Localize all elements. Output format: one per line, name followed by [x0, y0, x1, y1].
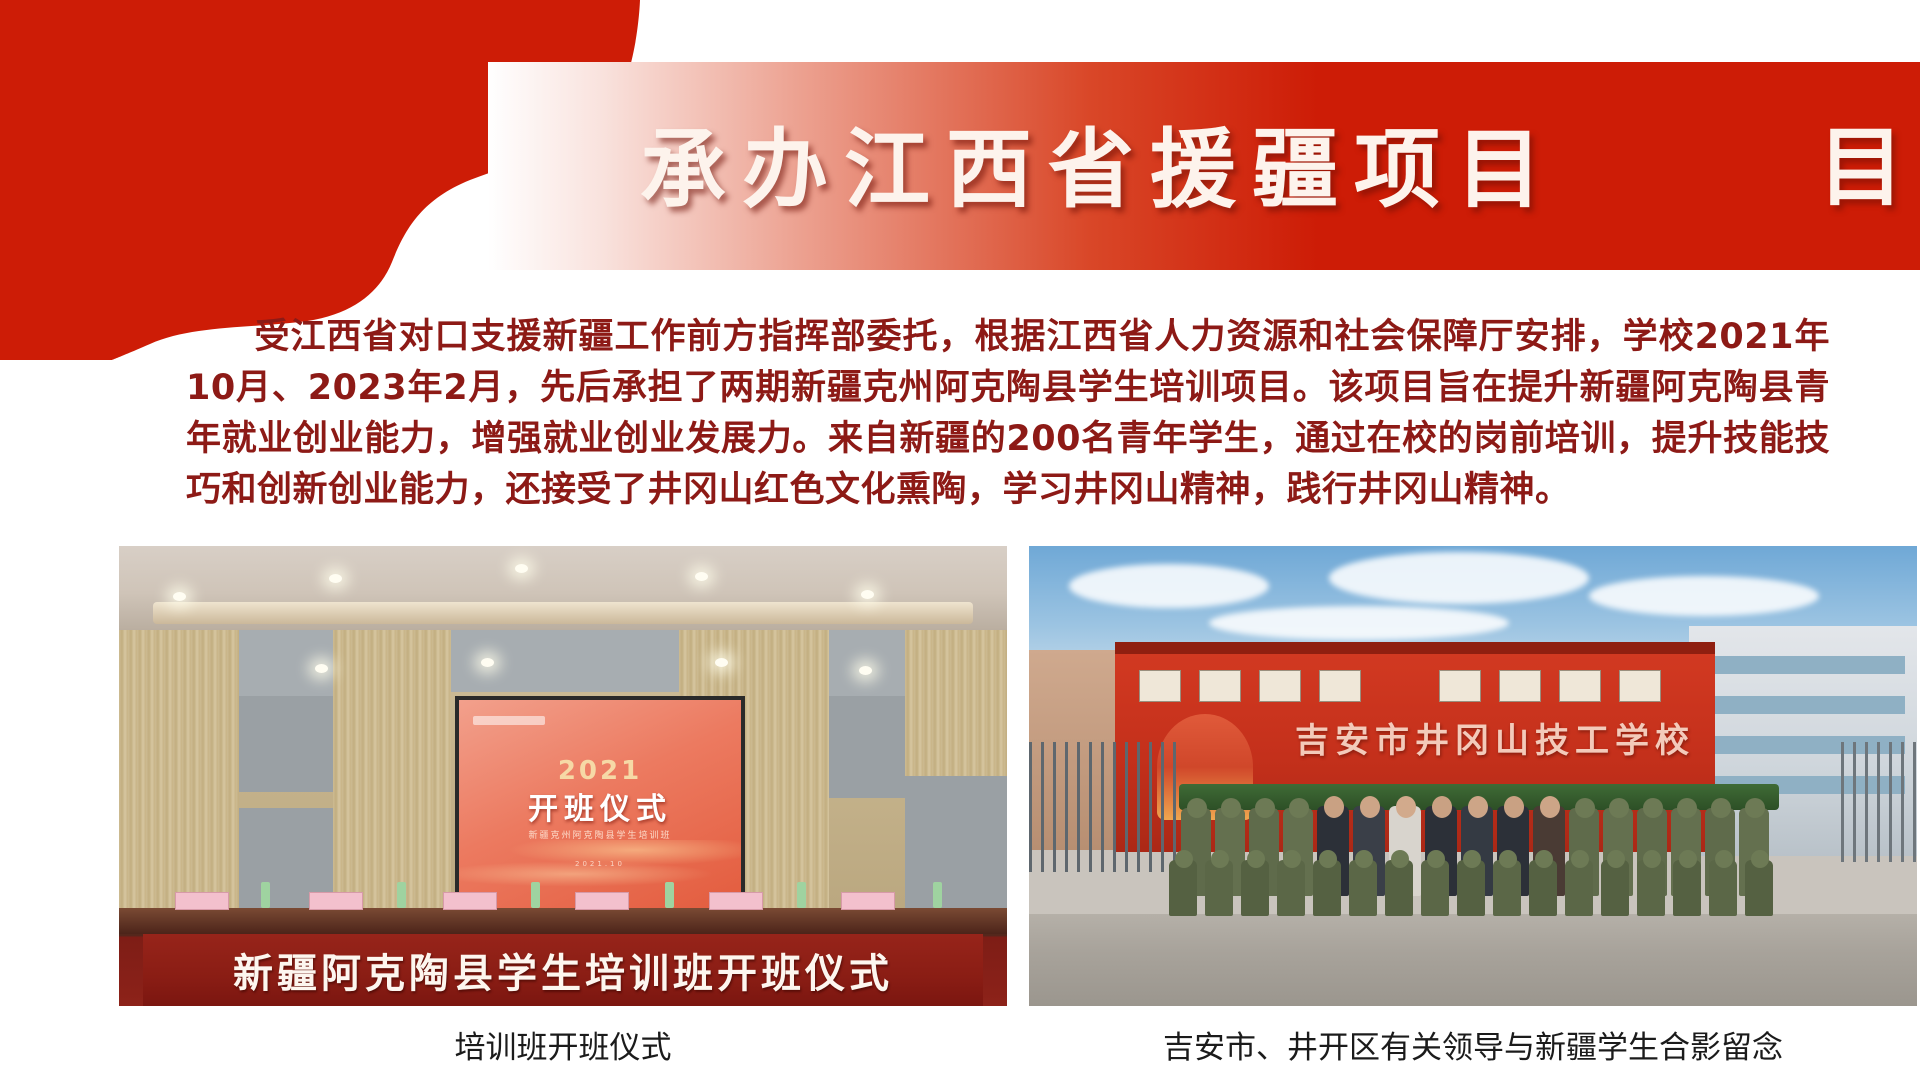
body-paragraph: 受江西省对口支援新疆工作前方指挥部委托，根据江西省人力资源和社会保障厅安排，学校…: [186, 312, 1830, 516]
student-cap: [1391, 850, 1409, 868]
student-cap: [1711, 798, 1731, 818]
student-cap: [1535, 850, 1553, 868]
projection-screen: 2021 开班仪式 新疆克州阿克陶县学生培训班 2021.10: [455, 696, 745, 914]
screen-logo: [473, 716, 545, 725]
name-card: [841, 892, 895, 910]
student-camo-front: [1601, 860, 1629, 916]
student-cap: [1247, 850, 1265, 868]
caption-right-photo: 吉安市、井开区有关领导与新疆学生合影留念: [1029, 1027, 1917, 1069]
wood-slat-panel: [119, 630, 239, 930]
student-cap: [1187, 798, 1207, 818]
window: [1259, 670, 1301, 702]
student-camo-front: [1421, 860, 1449, 916]
wall-wash-light: [859, 666, 872, 675]
student-cap: [1255, 798, 1275, 818]
name-card: [709, 892, 763, 910]
window: [1199, 670, 1241, 702]
water-bottle: [261, 882, 270, 908]
name-card: [175, 892, 229, 910]
student-cap: [1751, 850, 1769, 868]
ceiling-light: [515, 564, 528, 573]
cloud: [1069, 564, 1269, 608]
student-cap: [1355, 850, 1373, 868]
screen-wave-decoration: [459, 840, 741, 900]
leader-head: [1540, 796, 1560, 818]
building-name-sign: 吉安市井冈山技工学校: [1235, 714, 1755, 760]
ceiling-light: [173, 592, 186, 601]
student-cap: [1677, 798, 1697, 818]
student-camo-front: [1385, 860, 1413, 916]
name-card: [309, 892, 363, 910]
window: [1319, 670, 1361, 702]
wall-wash-light: [715, 658, 728, 667]
screen-title: 开班仪式: [459, 784, 741, 828]
body-paragraph-text: 受江西省对口支援新疆工作前方指挥部委托，根据江西省人力资源和社会保障厅安排，学校…: [186, 317, 1830, 510]
student-camo-front: [1637, 860, 1665, 916]
wall-wash-light: [481, 658, 494, 667]
student-camo-front: [1709, 860, 1737, 916]
gray-wall-panel: [905, 776, 1007, 918]
ceiling-cove-light: [153, 602, 973, 624]
student-cap: [1283, 850, 1301, 868]
water-bottle: [797, 882, 806, 908]
table-top: [119, 908, 1007, 934]
student-cap: [1607, 850, 1625, 868]
cloud: [1589, 576, 1819, 616]
caption-left-photo: 培训班开班仪式: [119, 1027, 1007, 1069]
student-cap: [1643, 850, 1661, 868]
ceiling-light: [329, 574, 342, 583]
ceremony-banner-text: 新疆阿克陶县学生培训班开班仪式: [233, 941, 893, 999]
cloud: [1329, 552, 1589, 604]
student-camo-front: [1745, 860, 1773, 916]
projection-screen-content: 2021 开班仪式 新疆克州阿克陶县学生培训班 2021.10: [459, 700, 741, 910]
ceiling-light: [861, 590, 874, 599]
window: [1559, 670, 1601, 702]
ceiling-light: [695, 572, 708, 581]
screen-date: 2021.10: [459, 860, 741, 868]
leader-head: [1396, 796, 1416, 818]
wood-slat-panel: [333, 630, 451, 930]
photo-training-class-opening-ceremony: 2021 开班仪式 新疆克州阿克陶县学生培训班 2021.10: [119, 546, 1007, 1006]
student-cap: [1745, 798, 1765, 818]
student-camo-front: [1169, 860, 1197, 916]
gray-wall-panel: [829, 696, 905, 798]
student-camo-front: [1457, 860, 1485, 916]
student-camo-front: [1241, 860, 1269, 916]
window: [1139, 670, 1181, 702]
student-cap: [1609, 798, 1629, 818]
water-bottle: [665, 882, 674, 908]
student-cap: [1679, 850, 1697, 868]
head-table: 新疆阿克陶县学生培训班开班仪式: [119, 908, 1007, 1006]
student-cap: [1643, 798, 1663, 818]
leader-head: [1432, 796, 1452, 818]
student-cap: [1571, 850, 1589, 868]
student-camo-front: [1493, 860, 1521, 916]
photo-group-photo-with-leaders: 吉安市井冈山技工学校: [1029, 546, 1917, 1006]
leader-head: [1468, 796, 1488, 818]
student-cap: [1463, 850, 1481, 868]
student-cap: [1715, 850, 1733, 868]
student-cap: [1211, 850, 1229, 868]
window: [1499, 670, 1541, 702]
ceremony-banner: 新疆阿克陶县学生培训班开班仪式: [143, 934, 983, 1006]
gray-wall-panel: [829, 630, 905, 700]
student-camo-front: [1529, 860, 1557, 916]
gray-wall-panel: [239, 696, 333, 792]
student-camo-front: [1277, 860, 1305, 916]
student-cap: [1289, 798, 1309, 818]
student-cap: [1499, 850, 1517, 868]
water-bottle: [397, 882, 406, 908]
leader-head: [1360, 796, 1380, 818]
water-bottle: [933, 882, 942, 908]
building-name-sign-text: 吉安市井冈山技工学校: [1295, 713, 1695, 762]
window-band: [1705, 656, 1905, 674]
slide-canvas: 承办江西省援疆项目 目 受江西省对口支援新疆工作前方指挥部委托，根据江西省人力资…: [0, 0, 1920, 1080]
page-title: 承办江西省援疆项目: [640, 110, 1650, 230]
edge-decorative-glyph: 目: [1818, 108, 1920, 228]
student-cap: [1427, 850, 1445, 868]
student-cap: [1175, 850, 1193, 868]
student-camo-front: [1565, 860, 1593, 916]
student-camo-front: [1349, 860, 1377, 916]
leader-head: [1504, 796, 1524, 818]
window: [1439, 670, 1481, 702]
screen-year: 2021: [459, 756, 741, 786]
wall-wash-light: [315, 664, 328, 673]
student-camo-front: [1205, 860, 1233, 916]
water-bottle: [531, 882, 540, 908]
name-card: [575, 892, 629, 910]
window-band: [1705, 696, 1905, 714]
name-card: [443, 892, 497, 910]
leader-head: [1324, 796, 1344, 818]
student-camo-front: [1313, 860, 1341, 916]
student-cap: [1319, 850, 1337, 868]
window: [1619, 670, 1661, 702]
student-cap: [1221, 798, 1241, 818]
student-group: [1029, 798, 1917, 958]
cloud: [1209, 606, 1509, 640]
student-cap: [1575, 798, 1595, 818]
screen-subtitle: 新疆克州阿克陶县学生培训班: [459, 828, 741, 841]
building-roofline: [1115, 642, 1715, 654]
student-camo-front: [1673, 860, 1701, 916]
